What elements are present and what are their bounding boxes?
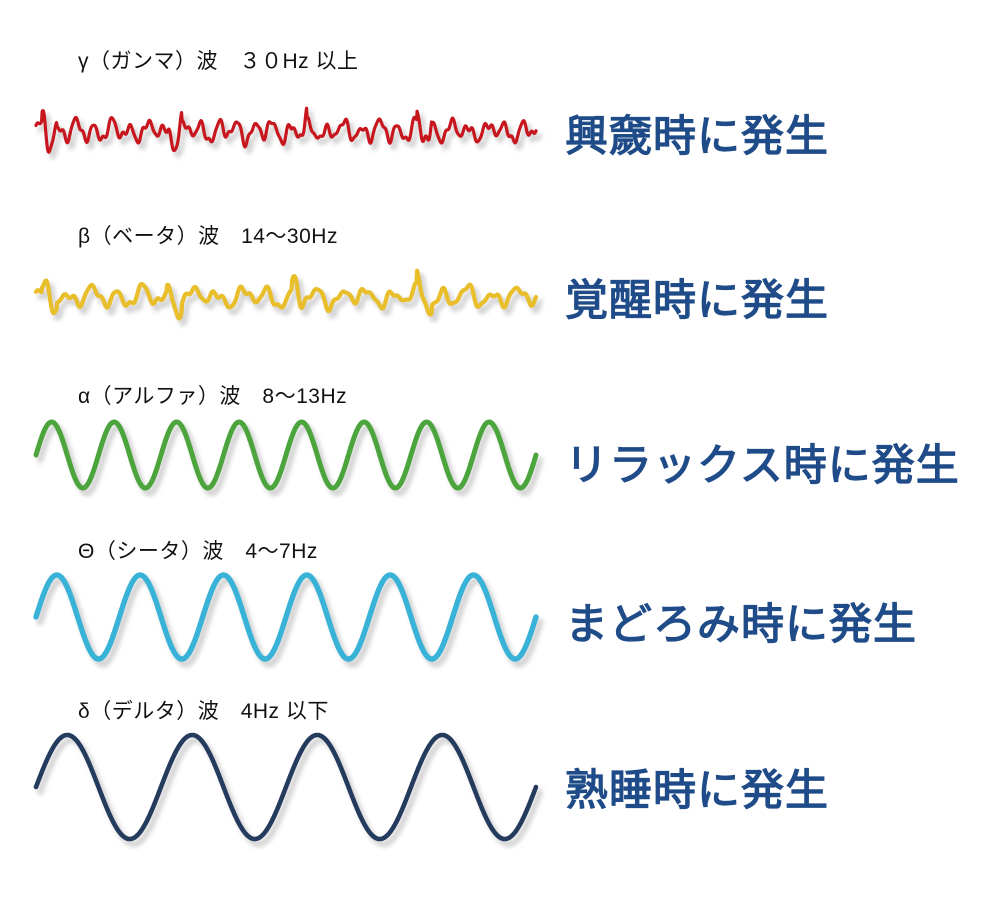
wave-state-beta: 覚醒時に発生 bbox=[565, 266, 829, 328]
wave-caption-beta: β（ベータ）波 14〜30Hz bbox=[78, 220, 338, 250]
wave-caption-delta: δ（デルタ）波 4Hz 以下 bbox=[78, 695, 329, 725]
wave-caption-theta: Θ（シータ）波 4〜7Hz bbox=[78, 535, 318, 565]
wave-state-delta: 熟睡時に発生 bbox=[565, 756, 829, 818]
wave-row-theta: Θ（シータ）波 4〜7Hz まどろみ時に発生 bbox=[0, 490, 995, 680]
waveform-gamma bbox=[36, 92, 536, 170]
wave-row-delta: δ（デルタ）波 4Hz 以下 熟睡時に発生 bbox=[0, 660, 995, 860]
waveform-theta bbox=[36, 562, 536, 672]
wave-state-alpha: リラックス時に発生 bbox=[565, 431, 960, 493]
waveform-alpha bbox=[36, 410, 536, 500]
brainwave-chart: γ（ガンマ）波 ３０Hz 以上 興奯時に発生 β（ベータ）波 14〜30Hz 覚… bbox=[0, 0, 995, 900]
wave-caption-gamma: γ（ガンマ）波 ３０Hz 以上 bbox=[78, 45, 359, 75]
wave-caption-alpha: α（アルファ）波 8〜13Hz bbox=[78, 380, 347, 410]
waveform-delta bbox=[36, 722, 536, 852]
wave-row-beta: β（ベータ）波 14〜30Hz 覚醒時に発生 bbox=[0, 175, 995, 350]
wave-state-theta: まどろみ時に発生 bbox=[565, 590, 917, 652]
wave-state-gamma: 興奯時に発生 bbox=[565, 102, 829, 164]
wave-row-gamma: γ（ガンマ）波 ３０Hz 以上 興奯時に発生 bbox=[0, 0, 995, 190]
waveform-beta bbox=[36, 258, 536, 336]
